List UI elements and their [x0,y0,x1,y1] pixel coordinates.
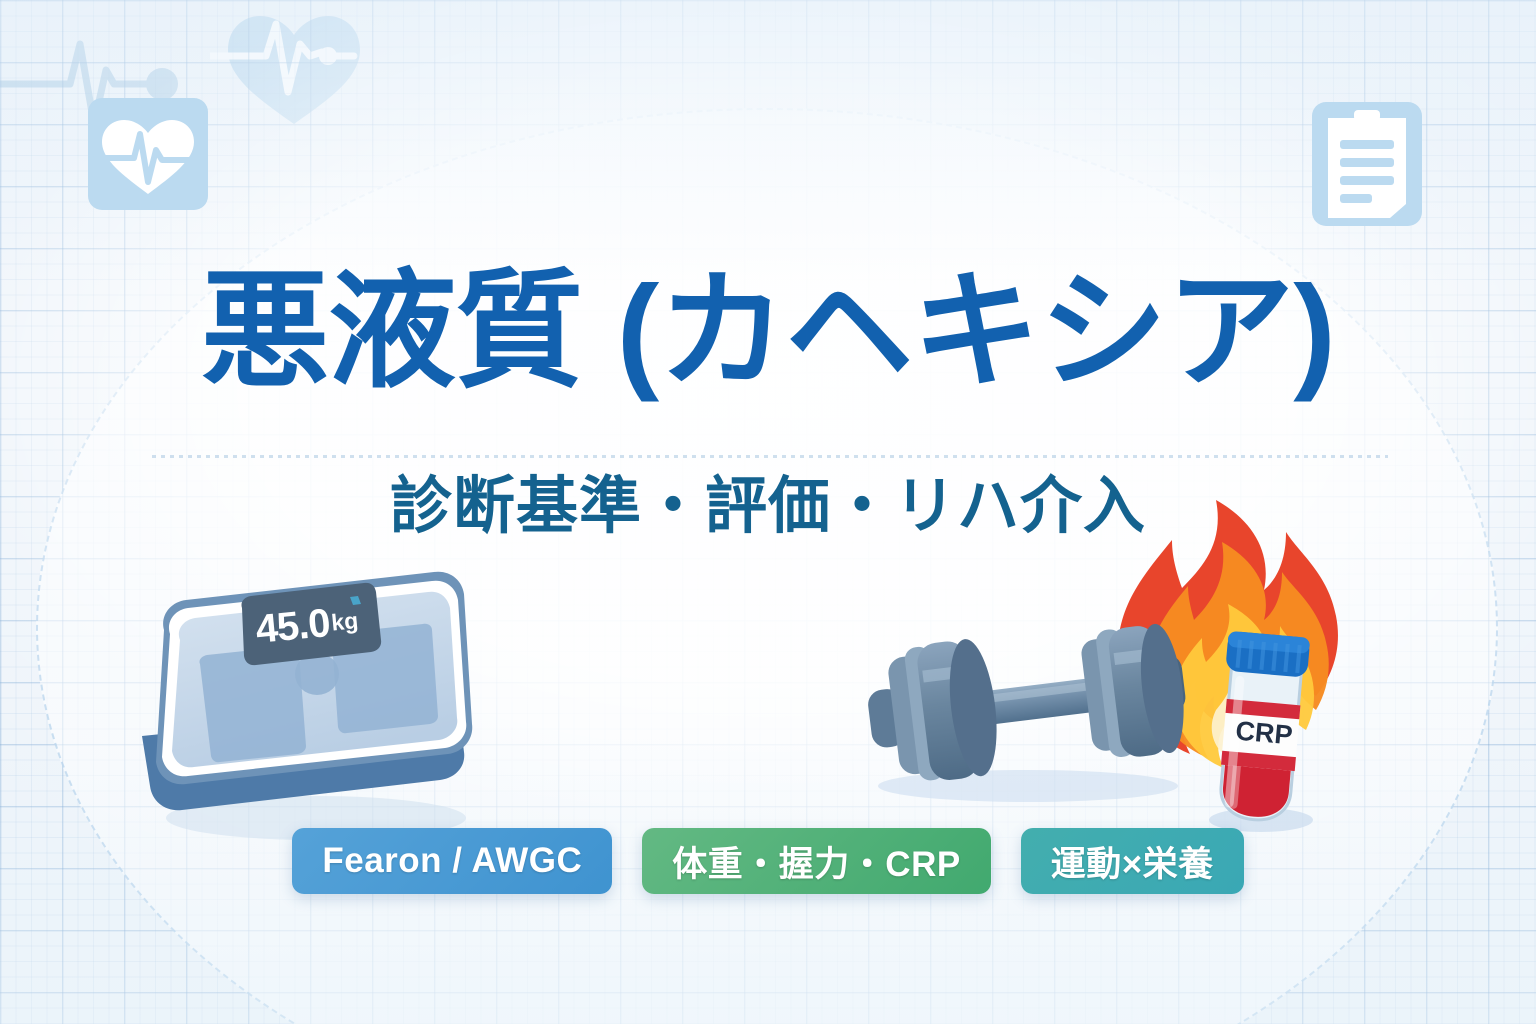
clipboard-icon [1312,100,1422,228]
title-divider [152,455,1388,458]
badge-therapy[interactable]: 運動×栄養 [1021,828,1244,894]
page-title: 悪液質 (カヘキシア) [0,268,1536,396]
dumbbell-icon [852,618,1204,804]
poster-canvas: 悪液質 (カヘキシア) 診断基準・評価・リハ介入 45.0 kg [0,0,1536,1024]
heart-ecg-icon [88,98,208,210]
badge-row: Fearon / AWGC 体重・握力・CRP 運動×栄養 [0,828,1536,894]
bathroom-scale-icon [128,556,484,846]
badge-criteria[interactable]: Fearon / AWGC [292,828,612,894]
badge-measures[interactable]: 体重・握力・CRP [642,828,990,894]
blood-test-vial-icon [1198,630,1324,834]
